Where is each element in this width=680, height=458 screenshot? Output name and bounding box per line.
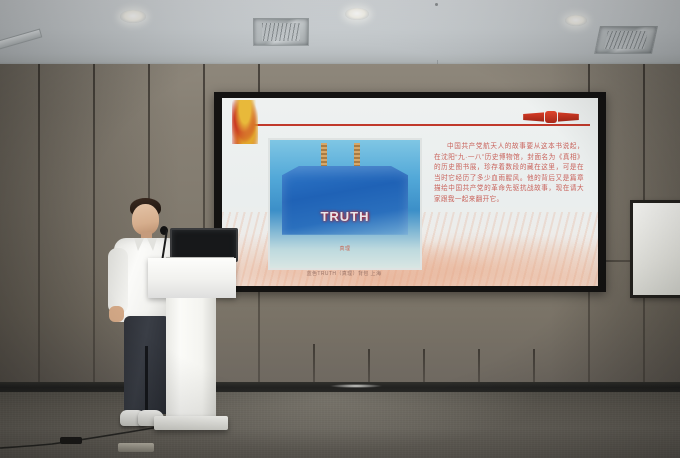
ceiling: [0, 0, 680, 74]
whiteboard-surface: [633, 203, 680, 295]
slide-body-text: 中国共产党航天人的故事要从这本书说起，在沈阳“九·一八”历史博物馆，封面名为《真…: [434, 142, 584, 205]
ribbon-ornament-icon: [522, 108, 580, 126]
lectern: [148, 258, 236, 436]
wall-seam: [533, 349, 535, 386]
lectern-base: [154, 416, 228, 430]
baseboard-glare: [330, 384, 382, 388]
lectern-top: [148, 258, 236, 298]
wall-whiteboard[interactable]: [630, 200, 680, 298]
cable-connector: [60, 437, 82, 444]
presentation-room-photo: TRUTH 真理 蓝色TRUTH（真理）背包 上海 中国共产党航天人的故事要从这…: [0, 0, 680, 458]
slide-photo-caption: 蓝色TRUTH（真理）背包 上海: [268, 270, 420, 277]
sprinkler-2: [435, 3, 438, 6]
floor-object: [118, 443, 154, 452]
ribbon-right-wing: [558, 112, 579, 121]
ceiling-slot-light: [0, 29, 42, 51]
lectern-column: [166, 298, 216, 420]
air-vent-1: [253, 18, 309, 46]
wall-seam: [313, 344, 315, 386]
wall-seam: [423, 349, 425, 386]
photo-overlay-text: TRUTH: [270, 209, 420, 224]
laptop[interactable]: [166, 228, 234, 262]
slide-content: TRUTH 真理 蓝色TRUTH（真理）背包 上海 中国共产党航天人的故事要从这…: [222, 98, 598, 286]
downlight-3: [565, 15, 587, 26]
ribbon-knot: [545, 111, 557, 123]
slide-photo: TRUTH 真理: [268, 138, 422, 270]
projection-screen[interactable]: TRUTH 真理 蓝色TRUTH（真理）背包 上海 中国共产党航天人的故事要从这…: [214, 92, 606, 292]
tassel-ornament-icon: [232, 100, 258, 144]
blue-banner-artifact: [282, 166, 408, 235]
downlight-1: [120, 10, 146, 23]
ribbon-left-wing: [523, 112, 544, 121]
presenter-hand-left: [109, 306, 124, 322]
vent-slats: [262, 23, 301, 41]
downlight-2: [345, 8, 369, 20]
photo-submark-text: 真理: [270, 245, 420, 252]
vent-slats: [604, 31, 648, 49]
wall-seam: [478, 349, 480, 386]
presenter-arm-left: [108, 248, 128, 314]
wall-seam: [368, 349, 370, 386]
air-vent-2: [594, 26, 658, 54]
